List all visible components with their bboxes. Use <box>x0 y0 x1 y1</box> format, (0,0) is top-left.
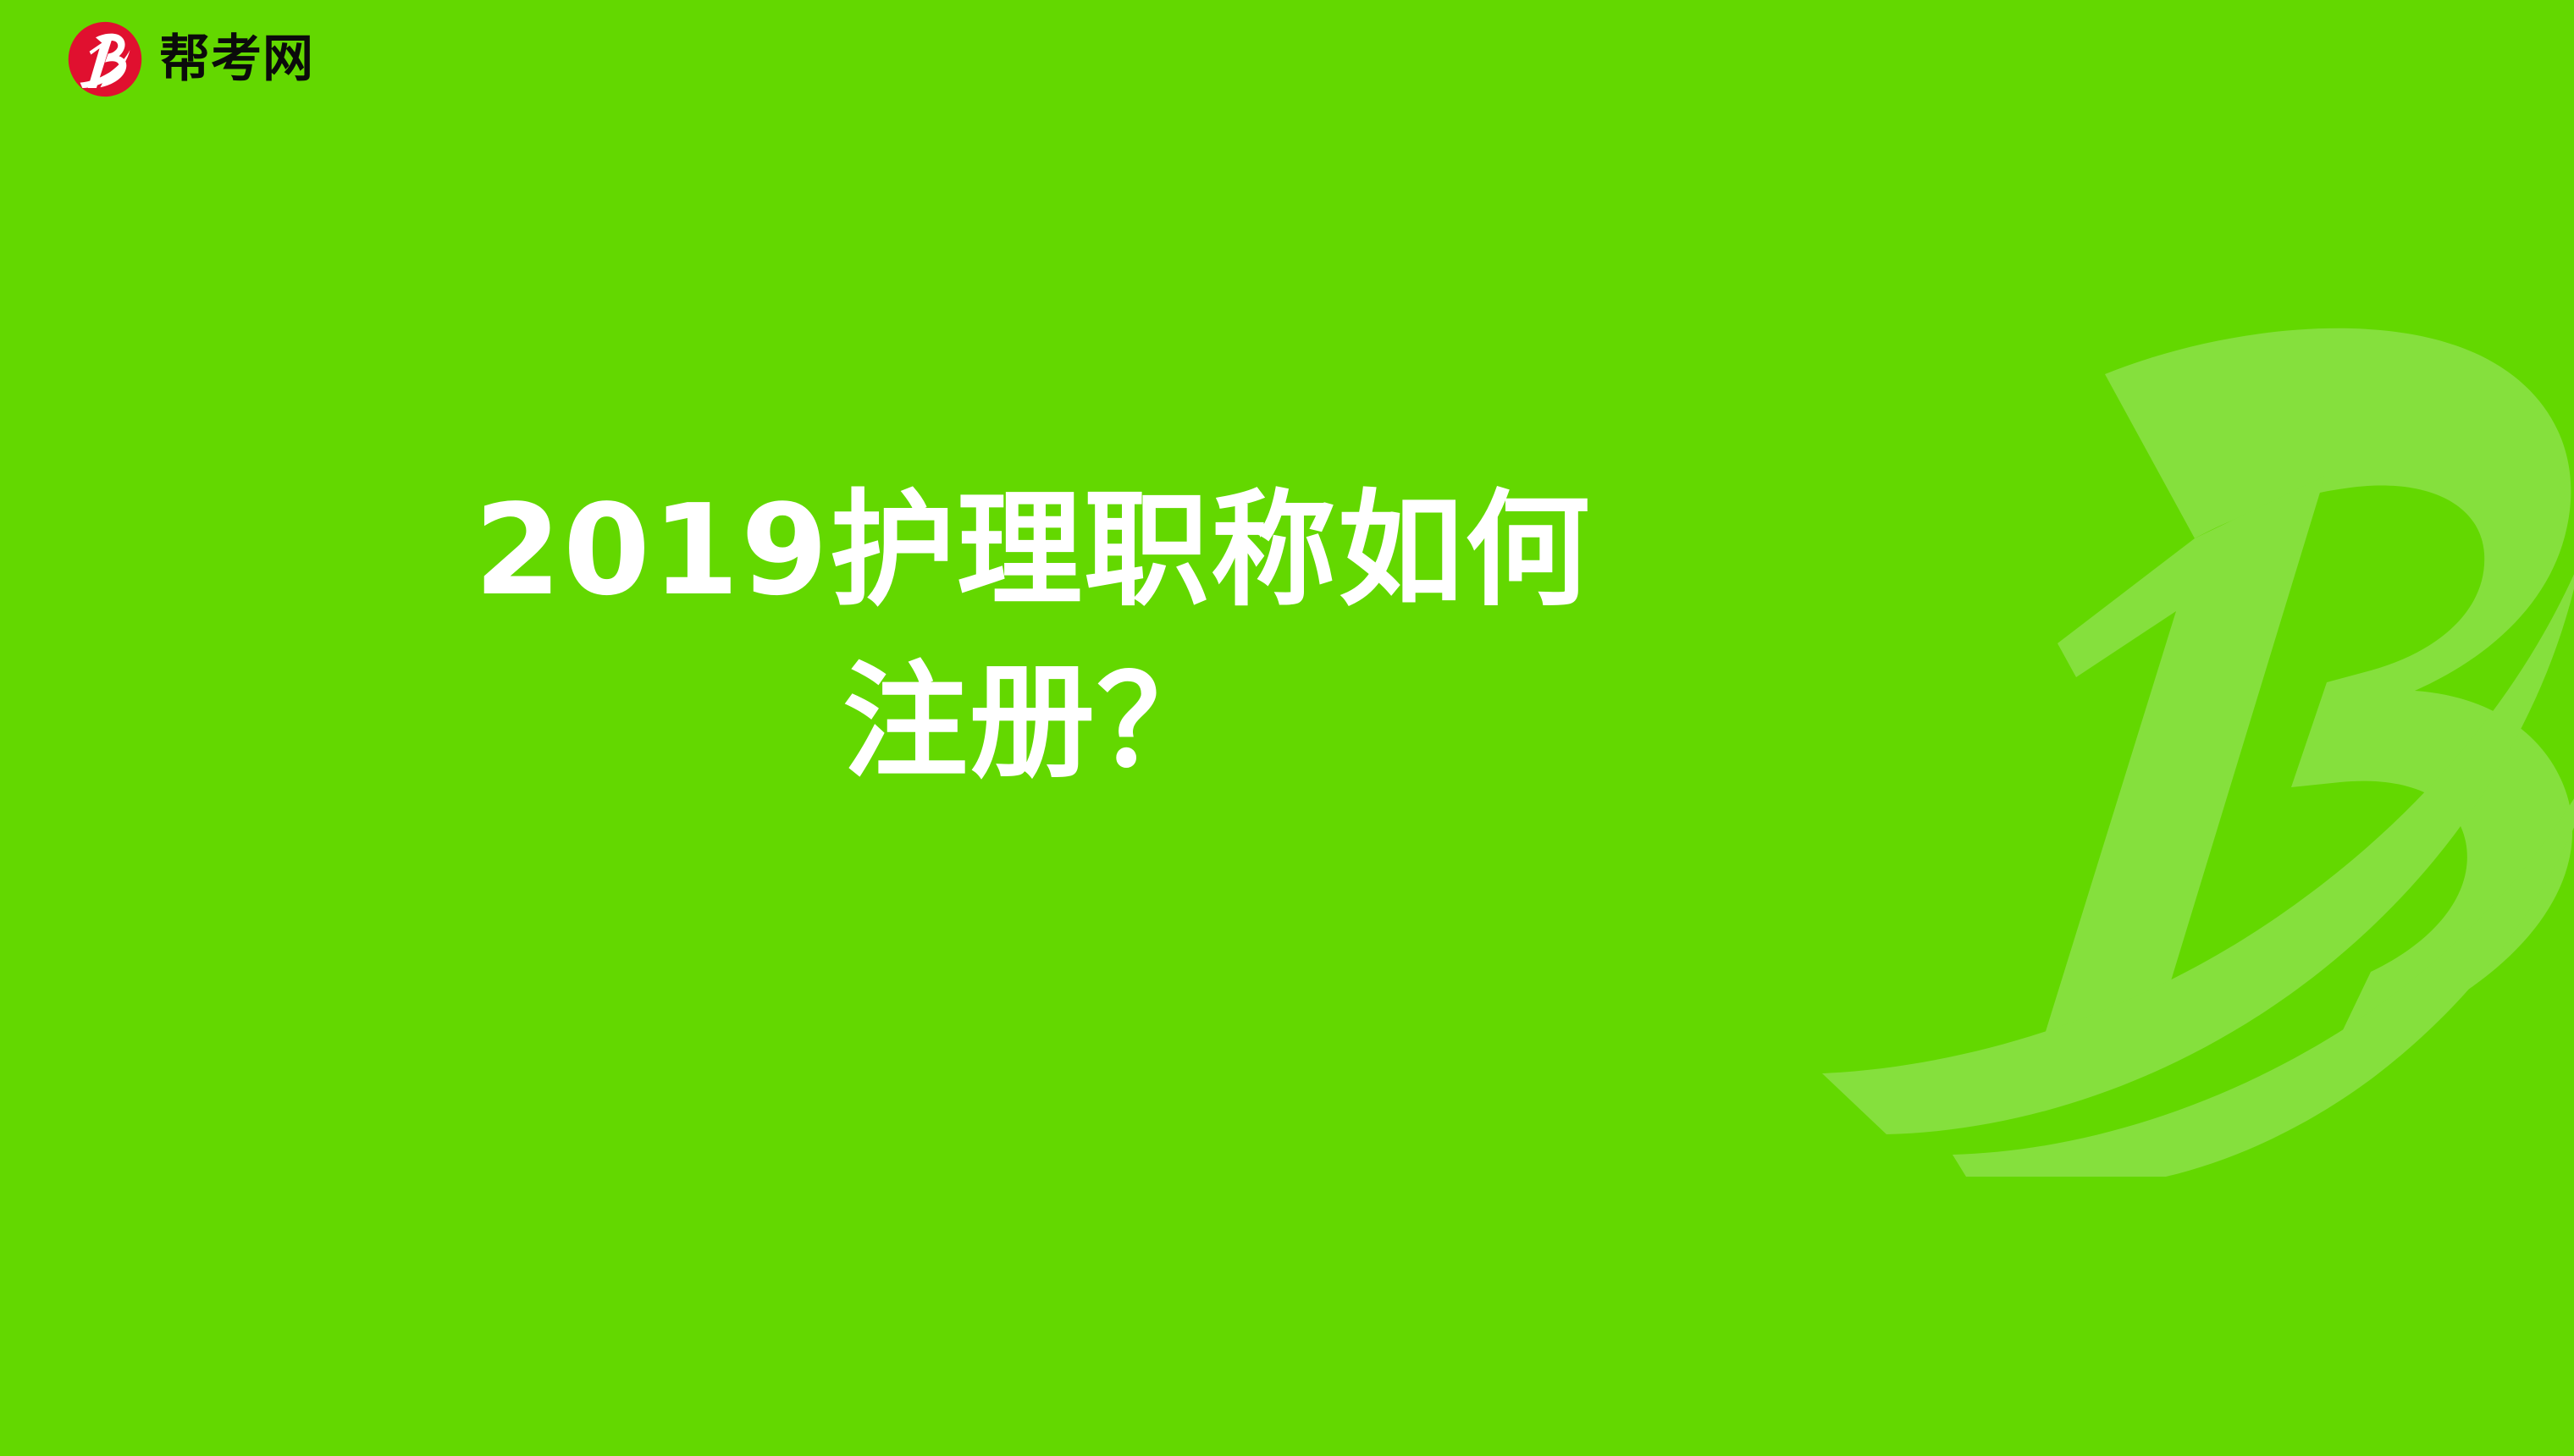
bangkao-b-logo-icon <box>66 20 144 98</box>
page-title: 2019护理职称如何 注册？ <box>0 474 2066 798</box>
site-logo[interactable]: 帮考网 <box>66 20 314 98</box>
site-logo-wordmark: 帮考网 <box>159 34 314 85</box>
page-title-line-1: 2019护理职称如何 <box>0 474 2066 627</box>
promo-banner: 帮考网 2019护理职称如何 注册？ <box>0 0 2574 1456</box>
page-title-line-2: 注册？ <box>0 646 2066 799</box>
